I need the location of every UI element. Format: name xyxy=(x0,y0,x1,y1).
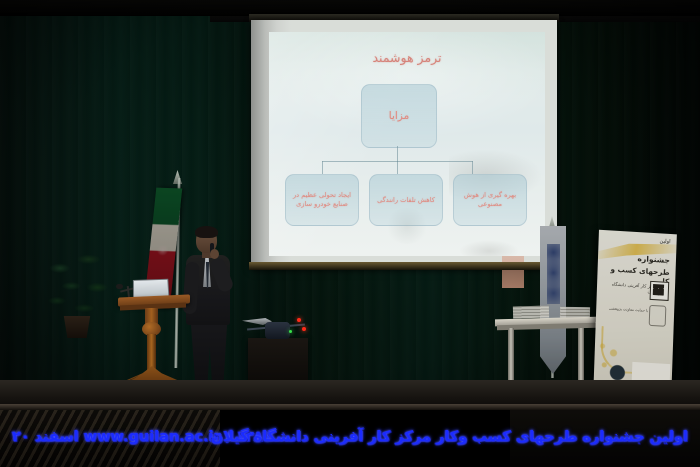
presenter-hair xyxy=(195,226,218,238)
side-table-leg-right xyxy=(578,328,584,382)
indicator-led-red-1 xyxy=(297,318,301,322)
projected-slide: ترمز هوشمند مزایا ایجاد تحولی عظیم در صن… xyxy=(269,32,545,256)
slide-leaf-node-3: بهره گیری از هوش مصنوعی xyxy=(453,174,527,226)
side-table-leg-left xyxy=(508,328,514,382)
caption-event-title: اولین جشنواره طرحهای کسب وکار مرکز کار آ… xyxy=(211,429,688,445)
slide-watermark xyxy=(385,208,429,244)
connector-drop-1 xyxy=(322,161,323,174)
presenter-hand xyxy=(210,249,219,259)
slide-shadow-patch-2 xyxy=(459,240,519,256)
connector-stem xyxy=(397,146,398,162)
university-logo-icon xyxy=(650,281,670,301)
podium-column xyxy=(147,334,156,370)
university-flag-marking xyxy=(547,244,560,304)
connector-drop-2 xyxy=(397,161,398,174)
slide-leaf-node-1: ایجاد تحولی عظیم در صنایع خودرو سازی xyxy=(285,174,359,226)
potted-plant xyxy=(44,246,116,320)
photo-scene: ترمز هوشمند مزایا ایجاد تحولی عظیم در صن… xyxy=(0,0,700,467)
podium-microphone-head xyxy=(116,284,123,289)
banner-line-1: اولین xyxy=(607,235,671,245)
connector-drop-3 xyxy=(472,161,473,174)
display-pedestal xyxy=(248,338,308,386)
table-papers-stack-1 xyxy=(513,306,549,319)
banner-line-5: با حمایت معاونت پژوهشی xyxy=(604,306,648,313)
university-flag xyxy=(540,226,566,374)
indicator-led-green xyxy=(289,330,292,333)
banner-line-2: جشنواره xyxy=(606,252,670,265)
caption-bar: www.guilan.ac.ir / ۱۳۸۷ اسفند ۲۰ اولین ج… xyxy=(0,410,700,467)
slide-title: ترمز هوشمند xyxy=(269,50,545,65)
iran-flag-emblem xyxy=(157,244,169,257)
indicator-led-red-2 xyxy=(302,327,306,331)
rollup-banner: اولین جشنواره طرحهای کسب و کار مرکز کار … xyxy=(593,230,677,403)
banner-stamp-icon xyxy=(649,305,667,327)
prototype-model xyxy=(265,322,290,339)
slide-root-node: مزایا xyxy=(361,84,437,148)
screen-bottom-bar xyxy=(249,262,561,270)
